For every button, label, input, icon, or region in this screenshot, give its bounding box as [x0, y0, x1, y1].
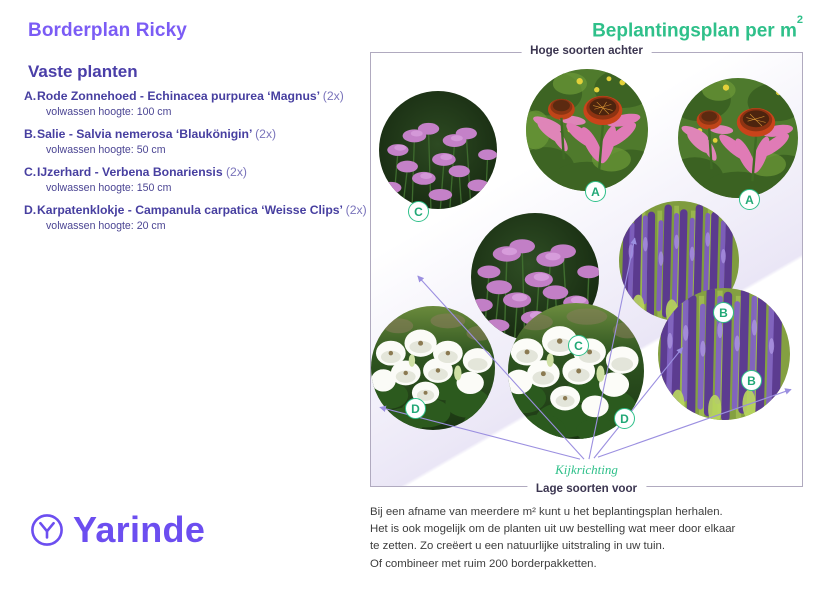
plant-letter: A.	[24, 89, 37, 104]
plant-list: A.Rode Zonnehoed - Echinacea purpurea ‘M…	[24, 89, 370, 241]
plant-name-row: D.Karpatenklokje - Campanula carpatica ‘…	[24, 203, 370, 218]
footer-note: Bij een afname van meerdere m² kunt u he…	[370, 504, 810, 573]
list-item: A.Rode Zonnehoed - Echinacea purpurea ‘M…	[24, 89, 370, 119]
list-item: B.Salie - Salvia nemerosa ‘Blaukönigin’ …	[24, 127, 370, 157]
label-hoge-soorten-achter: Hoge soorten achter	[521, 44, 652, 57]
section-heading-vaste-planten: Vaste planten	[28, 62, 138, 82]
badge-d: D	[405, 398, 426, 419]
footer-line: Of combineer met ruim 200 borderpakkette…	[370, 556, 810, 573]
y-in-circle-logo-icon	[30, 513, 64, 547]
scheme-title-text: Beplantingsplan per m	[592, 20, 797, 41]
plant-letter: C.	[24, 165, 37, 180]
plant-photo-echinacea-a1	[526, 69, 648, 191]
plant-count: (2x)	[255, 127, 276, 141]
plant-name-row: C.IJzerhard - Verbena Bonariensis (2x)	[24, 165, 370, 180]
plant-name: Karpatenklokje - Campanula carpatica ‘We…	[37, 203, 342, 217]
footer-line: Het is ook mogelijk om de planten uit uw…	[370, 521, 810, 538]
plant-height: volwassen hoogte: 150 cm	[24, 181, 370, 195]
badge-b: B	[713, 302, 734, 323]
plant-height: volwassen hoogte: 100 cm	[24, 105, 370, 119]
badge-c: C	[408, 201, 429, 222]
plant-letter: B.	[24, 127, 37, 142]
plant-height: volwassen hoogte: 50 cm	[24, 143, 370, 157]
label-lage-soorten-voor: Lage soorten voor	[527, 482, 646, 495]
list-item: C.IJzerhard - Verbena Bonariensis (2x) v…	[24, 165, 370, 195]
list-item: D.Karpatenklokje - Campanula carpatica ‘…	[24, 203, 370, 233]
plant-name: Rode Zonnehoed - Echinacea purpurea ‘Mag…	[37, 89, 319, 103]
plant-name-row: A.Rode Zonnehoed - Echinacea purpurea ‘M…	[24, 89, 370, 104]
left-column: Borderplan Ricky Vaste planten A.Rode Zo…	[0, 0, 370, 594]
plant-name: Salie - Salvia nemerosa ‘Blaukönigin’	[37, 127, 252, 141]
plant-height: volwassen hoogte: 20 cm	[24, 219, 370, 233]
brand-logo: Yarinde	[30, 512, 205, 548]
footer-line: Bij een afname van meerdere m² kunt u he…	[370, 504, 810, 521]
scheme-title: Beplantingsplan per m2	[592, 20, 803, 42]
plant-name: IJzerhard - Verbena Bonariensis	[37, 165, 223, 179]
plant-count: (2x)	[323, 89, 344, 103]
badge-d: D	[614, 408, 635, 429]
plant-photo-echinacea-a2	[678, 78, 798, 198]
footer-line: te zetten. Zo creëert u een natuurlijke …	[370, 538, 810, 555]
scheme-title-superscript: 2	[797, 14, 803, 26]
plant-letter: D.	[24, 203, 37, 218]
brand-name: Yarinde	[73, 512, 205, 548]
badge-a: A	[739, 189, 760, 210]
plant-count: (2x)	[346, 203, 367, 217]
viewing-direction-label: Kijkrichting	[555, 462, 618, 478]
plant-photo-verbena-c1	[379, 91, 497, 209]
badge-c: C	[568, 335, 589, 356]
plant-name-row: B.Salie - Salvia nemerosa ‘Blaukönigin’ …	[24, 127, 370, 142]
page-title: Borderplan Ricky	[28, 20, 187, 42]
plant-photo-campanula-d1	[371, 306, 495, 430]
badge-a: A	[585, 181, 606, 202]
badge-b: B	[741, 370, 762, 391]
plant-count: (2x)	[226, 165, 247, 179]
diagram-frame: Kijkrichting C A A C B D D B	[370, 52, 803, 487]
planting-scheme-diagram: Kijkrichting C A A C B D D B Hoge soorte…	[370, 52, 803, 487]
